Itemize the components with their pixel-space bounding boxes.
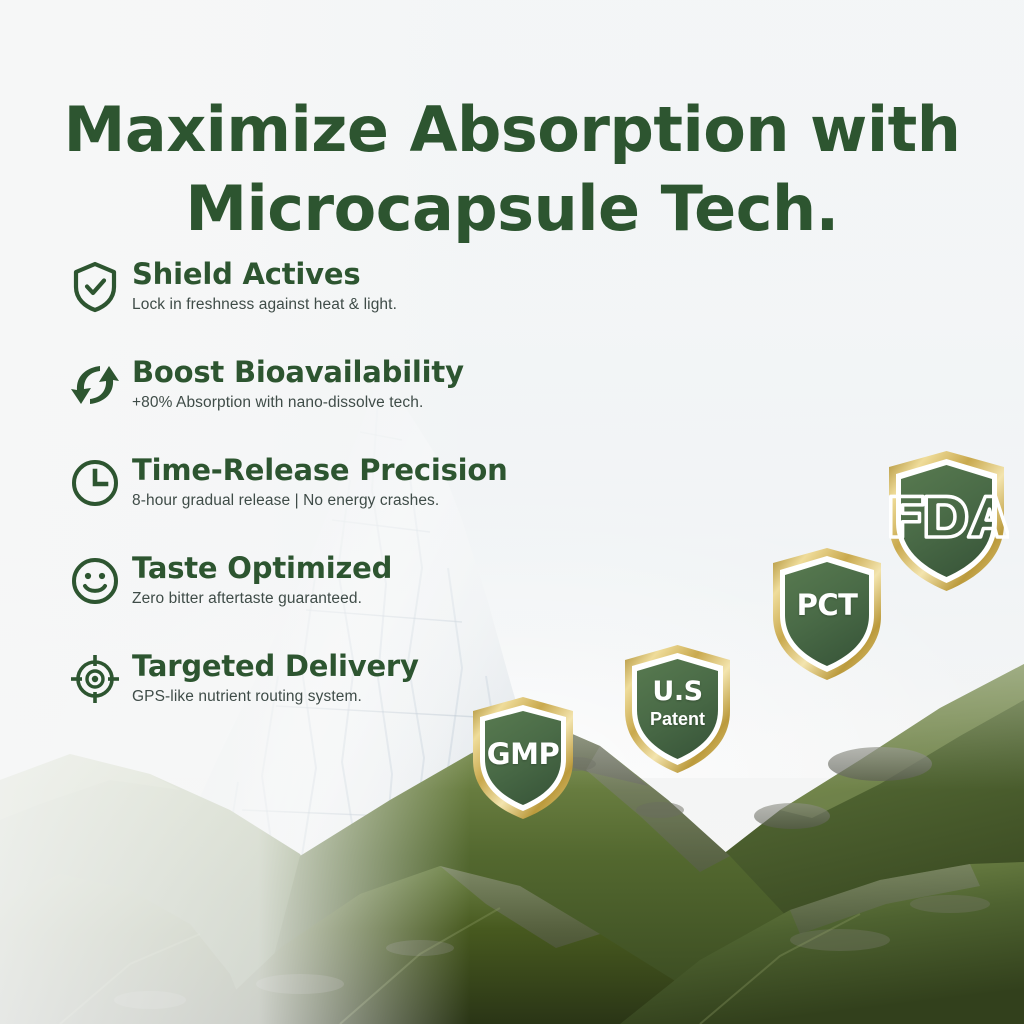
feature-text: Boost Bioavailability +80% Absorption wi… — [132, 354, 464, 413]
badge-label: GMP — [468, 740, 578, 769]
feature-subtitle: Zero bitter aftertaste guaranteed. — [132, 590, 392, 609]
badge-sublabel: Patent — [620, 710, 735, 728]
feature-text: Shield Actives Lock in freshness against… — [132, 256, 397, 315]
clock-icon — [58, 452, 132, 514]
feature-subtitle: +80% Absorption with nano-dissolve tech. — [132, 394, 464, 413]
feature-title: Targeted Delivery — [132, 650, 419, 682]
crosshair-target-icon — [58, 648, 132, 710]
feature-list: Shield Actives Lock in freshness against… — [58, 256, 618, 746]
shield-check-icon — [58, 256, 132, 318]
feature-text: Time-Release Precision 8-hour gradual re… — [132, 452, 508, 511]
badge-pct[interactable]: PCT — [768, 545, 886, 683]
feature-text: Targeted Delivery GPS-like nutrient rout… — [132, 648, 419, 707]
exchange-arrows-icon — [58, 354, 132, 416]
feature-text: Taste Optimized Zero bitter aftertaste g… — [132, 550, 392, 609]
poster-canvas: Maximize Absorption with Microcapsule Te… — [0, 0, 1024, 1024]
badge-gmp[interactable]: GMP — [468, 694, 578, 822]
feature-title: Boost Bioavailability — [132, 356, 464, 388]
smiley-face-icon — [58, 550, 132, 612]
page-title: Maximize Absorption with Microcapsule Te… — [0, 90, 1024, 249]
feature-item-time-release-precision: Time-Release Precision 8-hour gradual re… — [58, 452, 618, 526]
feature-subtitle: Lock in freshness against heat & light. — [132, 296, 397, 315]
badge-label: PCT — [768, 591, 886, 620]
badge-label: U.S — [620, 678, 735, 705]
feature-title: Shield Actives — [132, 258, 397, 290]
feature-subtitle: 8-hour gradual release | No energy crash… — [132, 492, 508, 511]
headline-line-2: Microcapsule Tech. — [0, 169, 1024, 248]
headline-line-1: Maximize Absorption with — [64, 93, 961, 166]
fda-wordmark — [884, 488, 1009, 542]
feature-item-shield-actives: Shield Actives Lock in freshness against… — [58, 256, 618, 330]
feature-title: Time-Release Precision — [132, 454, 508, 486]
feature-item-boost-bioavailability: Boost Bioavailability +80% Absorption wi… — [58, 354, 618, 428]
badge-us-patent[interactable]: U.S Patent — [620, 642, 735, 776]
feature-subtitle: GPS-like nutrient routing system. — [132, 688, 419, 707]
feature-title: Taste Optimized — [132, 552, 392, 584]
badge-fda[interactable] — [884, 448, 1009, 594]
feature-item-taste-optimized: Taste Optimized Zero bitter aftertaste g… — [58, 550, 618, 624]
